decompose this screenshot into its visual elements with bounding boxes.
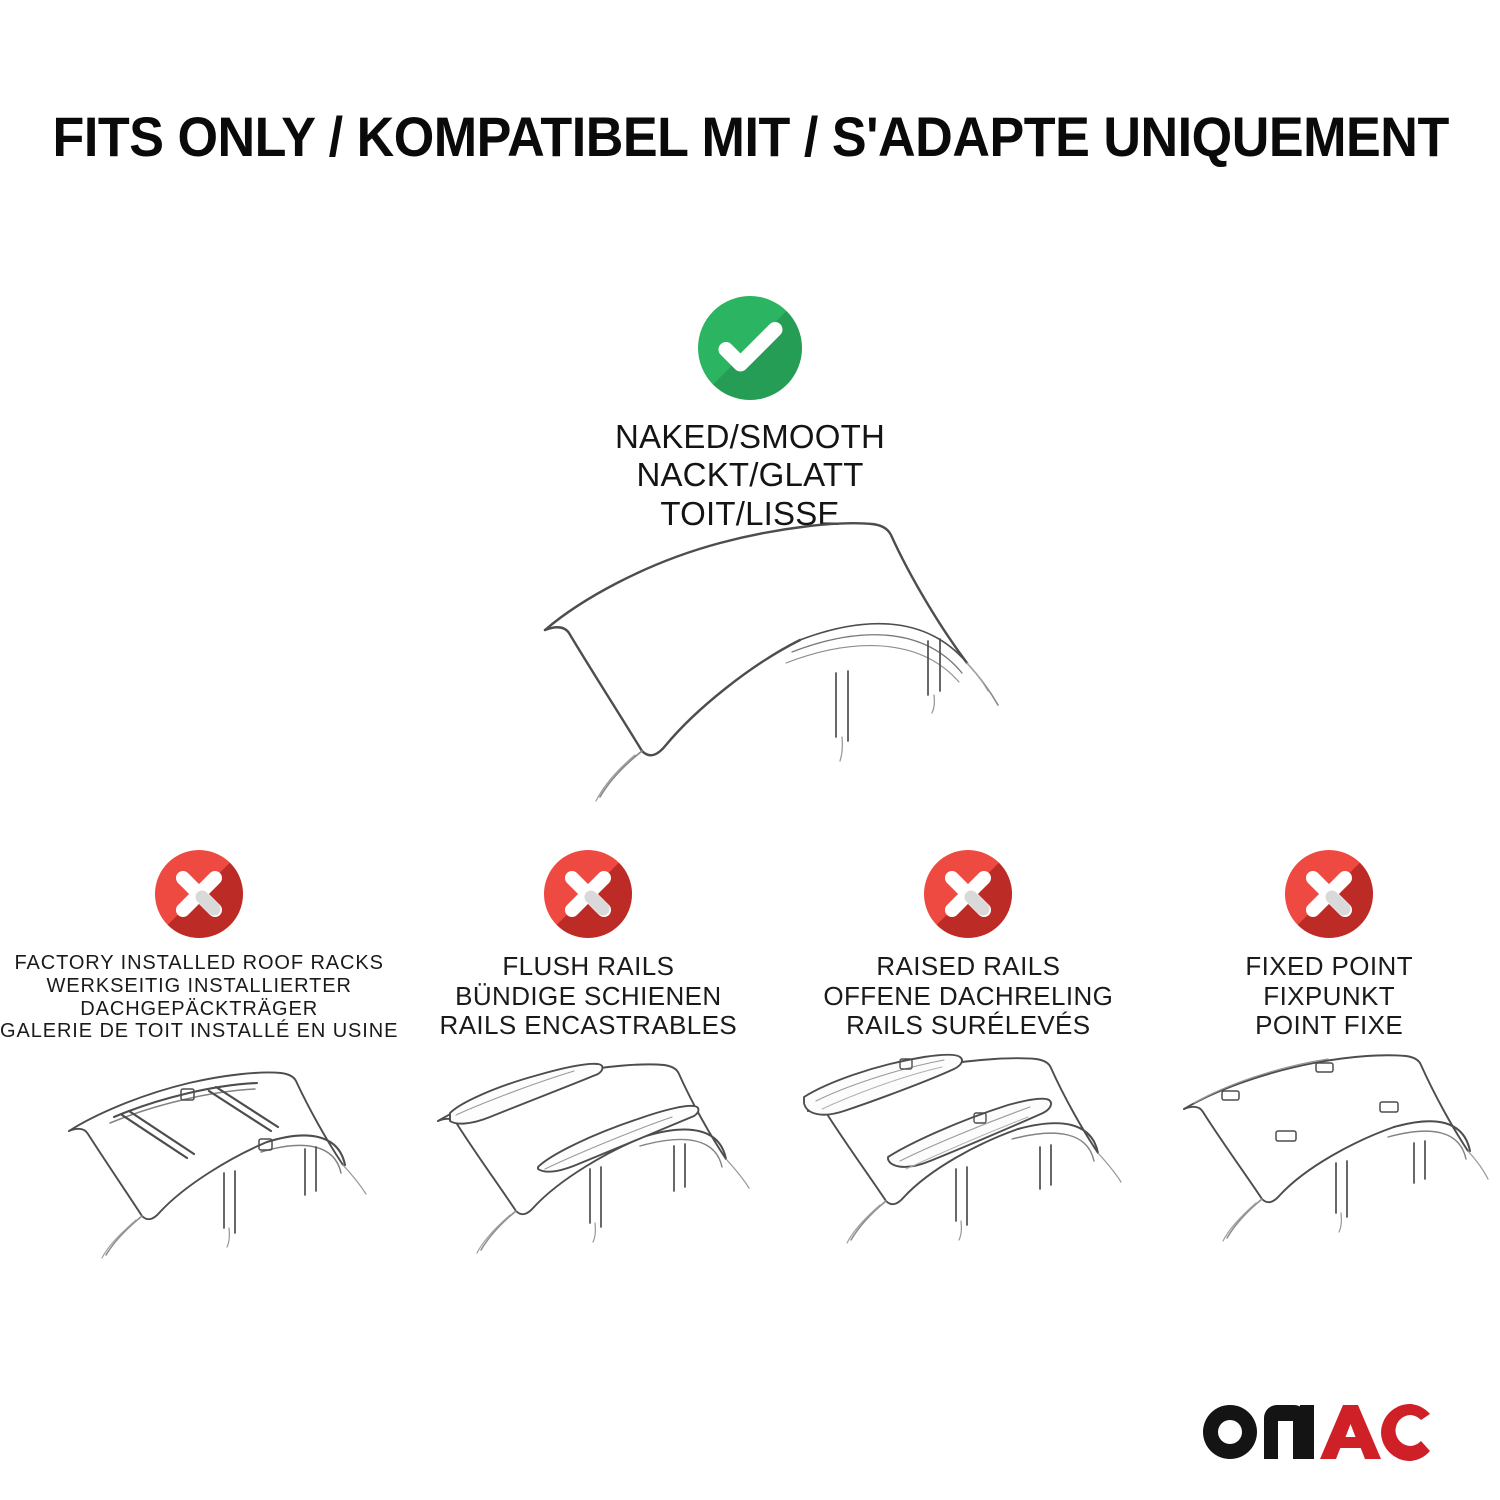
- car-roof-flush-rails-illustration: [398, 1051, 778, 1281]
- incompatible-label-raised-rails: RAISED RAILS OFFENE DACHRELING RAILS SUR…: [823, 952, 1113, 1041]
- label-line: BÜNDIGE SCHIENEN: [440, 982, 738, 1012]
- label-line: FACTORY INSTALLED ROOF RACKS: [0, 952, 398, 975]
- label-line: POINT FIXE: [1245, 1011, 1413, 1041]
- label-line: DACHGEPÄCKTRÄGER: [0, 998, 398, 1021]
- logo-letter-a: [1320, 1405, 1381, 1459]
- label-line: RAILS ENCASTRABLES: [440, 1011, 738, 1041]
- incompatible-section: FACTORY INSTALLED ROOF RACKS WERKSEITIG …: [0, 850, 1500, 1310]
- incompatible-item-flush-rails: FLUSH RAILS BÜNDIGE SCHIENEN RAILS ENCAS…: [398, 850, 778, 1310]
- label-line: FIXPUNKT: [1245, 982, 1413, 1012]
- page-title: FITS ONLY / KOMPATIBEL MIT / S'ADAPTE UN…: [53, 104, 1448, 169]
- incompatible-item-factory-rack: FACTORY INSTALLED ROOF RACKS WERKSEITIG …: [0, 850, 398, 1310]
- logo-letter-o: [1203, 1405, 1257, 1459]
- x-circle-icon: [544, 850, 632, 938]
- label-line: OFFENE DACHRELING: [823, 982, 1113, 1012]
- label-line: FLUSH RAILS: [440, 952, 738, 982]
- label-line: RAISED RAILS: [823, 952, 1113, 982]
- car-roof-naked-smooth-illustration: [470, 505, 1070, 805]
- compatible-section: NAKED/SMOOTH NACKT/GLATT TOIT/LISSE: [0, 296, 1500, 533]
- label-line: RAILS SURÉLEVÉS: [823, 1011, 1113, 1041]
- x-circle-icon: [1285, 850, 1373, 938]
- label-line: FIXED POINT: [1245, 952, 1413, 982]
- compatible-label-line-1: NAKED/SMOOTH: [615, 418, 885, 456]
- label-line: WERKSEITIG INSTALLIERTER: [0, 975, 398, 998]
- compatible-label-line-2: NACKT/GLATT: [615, 456, 885, 494]
- incompatible-item-fixed-point: FIXED POINT FIXPUNKT POINT FIXE: [1158, 850, 1500, 1310]
- check-circle-icon: [698, 296, 802, 400]
- x-circle-icon: [924, 850, 1012, 938]
- label-line: GALERIE DE TOIT INSTALLÉ EN USINE: [0, 1020, 398, 1043]
- incompatible-label-fixed-point: FIXED POINT FIXPUNKT POINT FIXE: [1245, 952, 1413, 1041]
- car-roof-factory-rack-illustration: [9, 1053, 389, 1283]
- logo-letter-m: [1264, 1405, 1314, 1459]
- incompatible-label-factory-rack: FACTORY INSTALLED ROOF RACKS WERKSEITIG …: [0, 952, 398, 1043]
- car-roof-fixed-point-illustration: [1164, 1051, 1494, 1281]
- x-circle-icon: [155, 850, 243, 938]
- incompatible-item-raised-rails: RAISED RAILS OFFENE DACHRELING RAILS SUR…: [778, 850, 1158, 1310]
- omac-logo: [1194, 1392, 1444, 1464]
- compatibility-infographic: FITS ONLY / KOMPATIBEL MIT / S'ADAPTE UN…: [0, 0, 1500, 1500]
- car-roof-raised-rails-illustration: [778, 1051, 1158, 1281]
- logo-letter-c: [1381, 1404, 1430, 1461]
- incompatible-label-flush-rails: FLUSH RAILS BÜNDIGE SCHIENEN RAILS ENCAS…: [440, 952, 738, 1041]
